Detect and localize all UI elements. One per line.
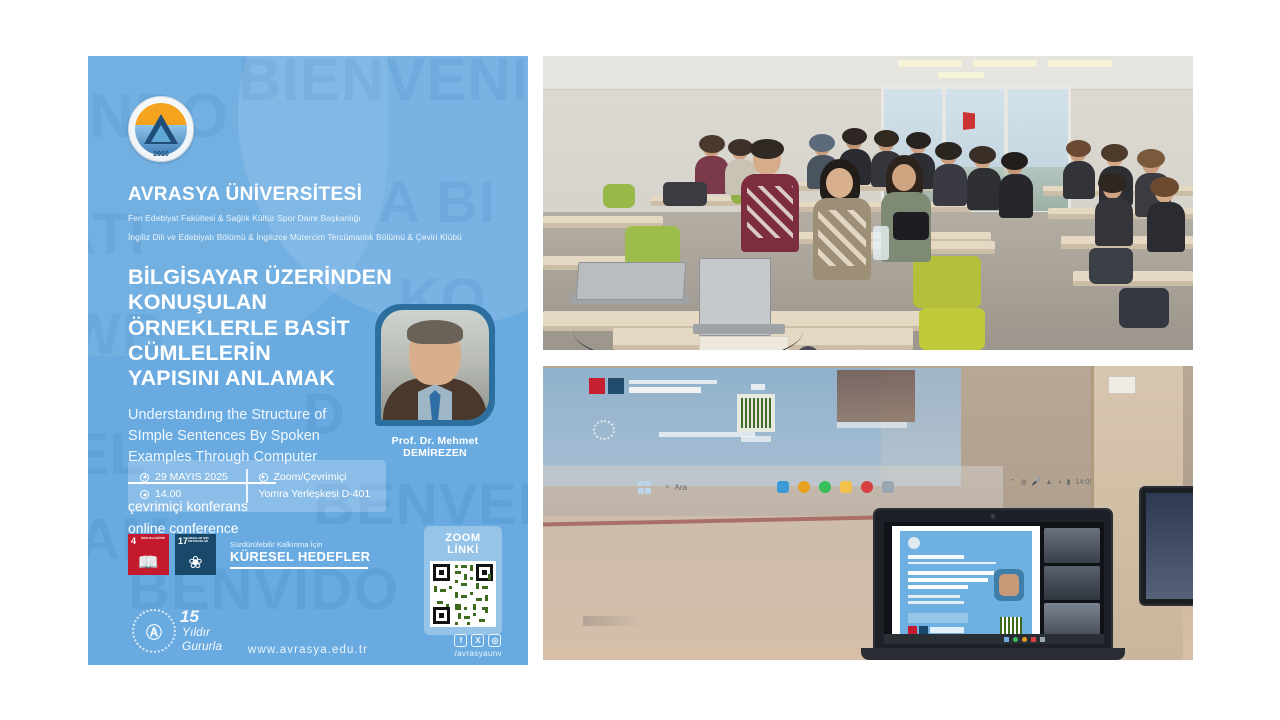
zoom-icon[interactable] bbox=[861, 481, 873, 493]
collage-page: BIENVENIÚ VINDO A BI ATI KO WB D EL BENV… bbox=[0, 0, 1280, 720]
social-icons-row: f X ◎ bbox=[454, 634, 502, 647]
settings-icon[interactable] bbox=[882, 481, 894, 493]
participant-tile[interactable] bbox=[1044, 603, 1100, 638]
event-platform-row: Zoom/Çevrimiçi bbox=[259, 469, 371, 486]
open-book-icon: 📖 bbox=[128, 554, 169, 571]
taskbar-search-box[interactable]: ⌕ Ara bbox=[665, 482, 687, 492]
water-bottle bbox=[873, 226, 889, 260]
taskbar-row[interactable]: ⌕ Ara bbox=[543, 476, 998, 498]
taskbar-tray[interactable]: ⌃ ◍ 🎤 ▲ ◑ ▮ 14:05 bbox=[1010, 478, 1093, 486]
event-poster: BIENVENIÚ VINDO A BI ATI KO WB D EL BENV… bbox=[88, 56, 528, 665]
zoom-link-box[interactable]: ZOOM LİNKİ bbox=[424, 526, 502, 635]
event-time-row: 14.00 bbox=[140, 486, 244, 503]
sdg-4-number: 4 bbox=[131, 536, 136, 546]
laptop-lid bbox=[576, 262, 687, 300]
secondary-monitor bbox=[1139, 486, 1193, 606]
event-time: 14.00 bbox=[155, 486, 181, 503]
event-info-left: 29 MAYIS 2025 14.00 bbox=[140, 469, 244, 504]
file-explorer-icon[interactable] bbox=[840, 481, 852, 493]
avrasya-university-logo-icon: 2010 bbox=[128, 96, 194, 162]
x-twitter-icon[interactable]: X bbox=[471, 634, 484, 647]
taskbar-search-placeholder: Ara bbox=[674, 483, 686, 492]
speaker-portrait bbox=[381, 310, 489, 420]
backpack bbox=[663, 182, 707, 206]
faculty-line-2: İngiliz Dili ve Edebiyatı Bölümü & İngil… bbox=[128, 231, 494, 244]
event-info-right: Zoom/Çevrimiçi Yomra Yerleşkesi D-401 bbox=[259, 469, 371, 504]
sdg-17-number: 17 bbox=[178, 536, 188, 546]
laptop-screen bbox=[884, 522, 1104, 644]
taskbar-app-icons[interactable] bbox=[777, 481, 894, 493]
zoom-link-qr-code[interactable] bbox=[430, 561, 496, 627]
laptop-lid bbox=[873, 508, 1113, 650]
windows-start-icon[interactable] bbox=[638, 481, 651, 494]
info-divider bbox=[246, 469, 248, 503]
title-en-line-1: Understandıng the Structure of bbox=[128, 405, 353, 426]
calendar-icon bbox=[140, 473, 149, 482]
projected-speaker-name bbox=[837, 422, 907, 428]
wall-marking bbox=[583, 616, 643, 626]
social-handle: /avrasyaunv bbox=[454, 649, 502, 658]
classroom-audience-photo bbox=[543, 56, 1193, 350]
microphone-icon[interactable]: 🎤 bbox=[1032, 478, 1041, 486]
secondary-monitor-screen bbox=[1146, 493, 1193, 599]
classroom-chair-green bbox=[603, 184, 635, 208]
interlocking-circles-icon: ❀ bbox=[175, 554, 216, 571]
anniversary-line-1: Yıldır bbox=[182, 625, 210, 639]
sdg-badge-17: 17 AMAÇLAR İÇİN ORTAKLIKLAR ❀ bbox=[175, 534, 216, 575]
classroom-chair-olive bbox=[913, 256, 981, 308]
speaker-block: Prof. Dr. Mehmet DEMİREZEN bbox=[370, 304, 500, 459]
classroom-chair bbox=[1119, 288, 1169, 328]
sdg-4-label: NİTELİKLİ EĞİTİM bbox=[141, 537, 165, 540]
logo-ring bbox=[135, 103, 187, 155]
facebook-icon[interactable]: f bbox=[454, 634, 467, 647]
widgets-icon[interactable] bbox=[777, 481, 789, 493]
participant-tile[interactable] bbox=[1044, 528, 1100, 563]
speaker-hair bbox=[407, 320, 463, 344]
location-pin-icon bbox=[259, 473, 268, 482]
zoom-link-title: ZOOM LİNKİ bbox=[430, 532, 496, 556]
wifi-icon[interactable]: ▲ bbox=[1045, 479, 1052, 486]
projection-and-laptop-photo: ⌕ Ara ⌃ ◍ 🎤 ▲ ◑ ▮ 14:05 bbox=[543, 366, 1193, 660]
laptop-taskbar[interactable] bbox=[884, 634, 1104, 644]
volume-icon[interactable]: ◑ bbox=[1057, 479, 1061, 486]
event-date-row: 29 MAYIS 2025 bbox=[140, 469, 244, 486]
event-info-bar: 29 MAYIS 2025 14.00 Zoom/Çevrimiçi Yomra… bbox=[128, 460, 386, 512]
participant-tile[interactable] bbox=[1044, 566, 1100, 601]
clock-icon bbox=[140, 490, 149, 499]
logo-year: 2010 bbox=[129, 151, 193, 158]
laptop-slide-view bbox=[892, 526, 1040, 640]
sdg-underline bbox=[230, 567, 368, 569]
speaker-name: Prof. Dr. Mehmet DEMİREZEN bbox=[370, 435, 500, 459]
sdg-goals-block: 4 NİTELİKLİ EĞİTİM 📖 17 AMAÇLAR İÇİN ORT… bbox=[128, 534, 370, 575]
laptop-keyboard-base bbox=[861, 648, 1125, 660]
event-venue: Yomra Yerleşkesi D-401 bbox=[259, 486, 371, 503]
social-media-block: f X ◎ /avrasyaunv bbox=[454, 634, 502, 658]
laptop-poster-thumbnail bbox=[900, 531, 1032, 635]
sdg-caption-small: Sürdürülebilir Kalkınma İçin bbox=[230, 540, 370, 549]
handbag bbox=[893, 212, 929, 240]
search-icon: ⌕ bbox=[665, 482, 669, 492]
zoom-participant-tiles bbox=[1044, 528, 1100, 638]
faculty-line-1: Fen Edebiyat Fakültesi & Sağlık Kültür S… bbox=[128, 212, 494, 225]
classroom-ceiling bbox=[543, 56, 1193, 90]
instagram-icon[interactable]: ◎ bbox=[488, 634, 501, 647]
sdg-caption-large: KÜRESEL HEDEFLER bbox=[230, 549, 370, 564]
speaker-photo-frame bbox=[375, 304, 495, 426]
whatsapp-icon[interactable] bbox=[819, 481, 831, 493]
laptop-webcam-icon bbox=[991, 514, 996, 519]
chevron-up-icon[interactable]: ⌃ bbox=[1010, 478, 1016, 486]
classroom-chair-green bbox=[625, 226, 680, 266]
poster-title-english: Understandıng the Structure of SImple Se… bbox=[128, 405, 353, 468]
university-name: AVRASYA ÜNİVERSİTESİ bbox=[128, 184, 494, 206]
turkish-flag-icon bbox=[963, 112, 975, 130]
event-platform: Zoom/Çevrimiçi bbox=[274, 469, 347, 486]
classroom-chair-olive bbox=[919, 308, 985, 350]
event-date: 29 MAYIS 2025 bbox=[155, 469, 228, 486]
chrome-icon[interactable] bbox=[798, 481, 810, 493]
sdg-17-label: AMAÇLAR İÇİN ORTAKLIKLAR bbox=[188, 537, 216, 544]
projected-speaker-photo bbox=[837, 370, 915, 422]
anniversary-number: 15 bbox=[180, 607, 199, 627]
classroom-chair bbox=[1089, 248, 1133, 284]
light-switch[interactable] bbox=[1108, 376, 1136, 394]
battery-icon[interactable]: ▮ bbox=[1067, 478, 1071, 486]
antivirus-icon[interactable]: ◍ bbox=[1021, 478, 1027, 486]
presenter-laptop bbox=[873, 508, 1113, 660]
sdg-caption: Sürdürülebilir Kalkınma İçin KÜRESEL HED… bbox=[230, 540, 370, 569]
sdg-badge-4: 4 NİTELİKLİ EĞİTİM 📖 bbox=[128, 534, 169, 575]
logo-inner-peak-icon bbox=[151, 125, 171, 142]
title-en-line-2: SImple Sentences By Spoken bbox=[128, 426, 353, 447]
